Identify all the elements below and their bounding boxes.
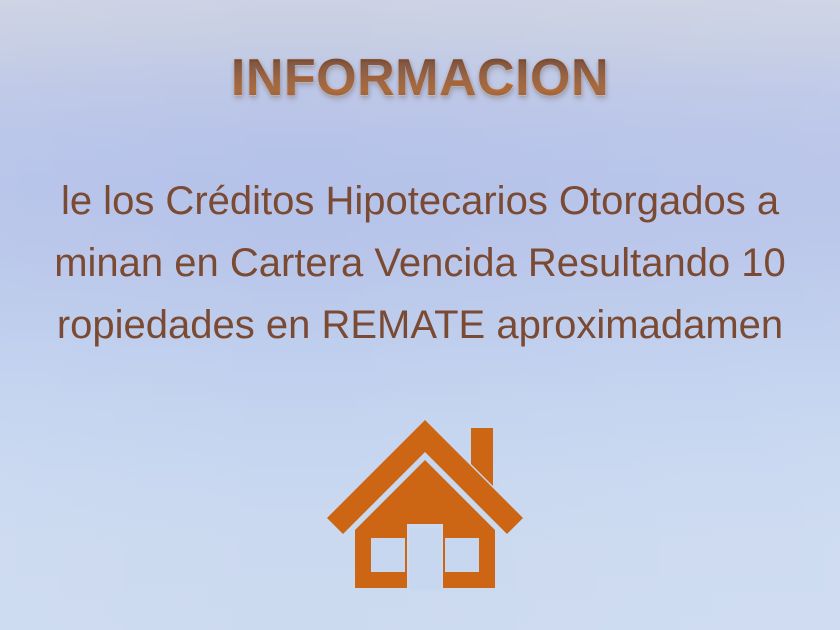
slide-title: INFORMACION	[231, 52, 609, 104]
body-line-1: le los Créditos Hipotecarios Otorgados a	[0, 170, 840, 232]
body-line-3: ropiedades en REMATE aproximadamen	[0, 294, 840, 356]
body-line-2: minan en Cartera Vencida Resultando 10	[0, 232, 840, 294]
slide-body-text: le los Créditos Hipotecarios Otorgados a…	[0, 170, 840, 356]
presentation-slide: INFORMACION le los Créditos Hipotecarios…	[0, 0, 840, 630]
slide-title-container: INFORMACION	[0, 52, 840, 104]
house-icon	[325, 412, 525, 592]
